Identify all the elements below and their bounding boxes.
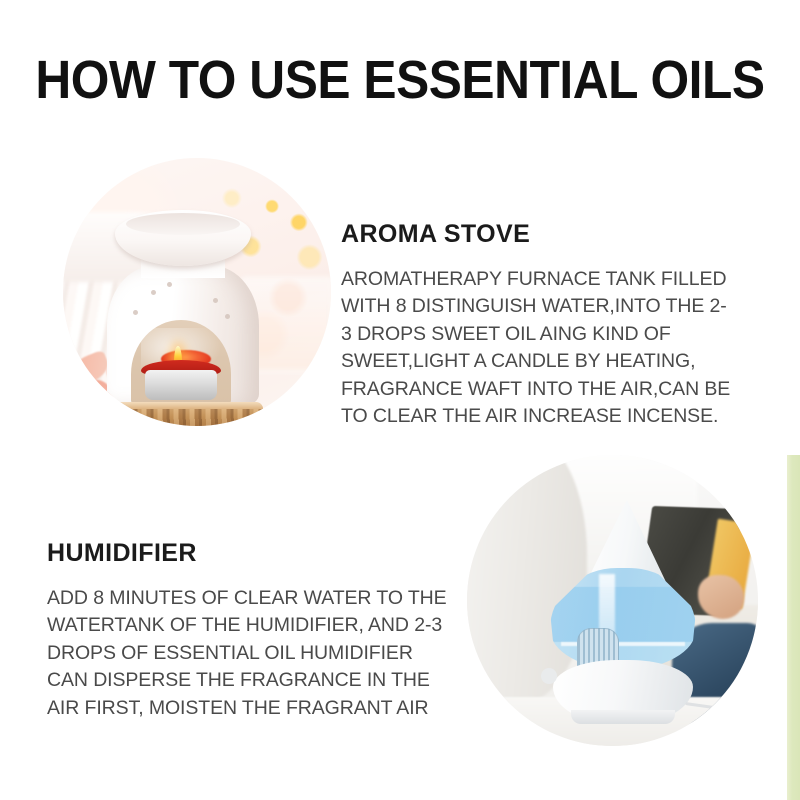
page-title: HOW TO USE ESSENTIAL OILS <box>32 52 768 108</box>
right-edge-green-strip <box>787 455 800 800</box>
section-heading-aroma-stove: AROMA STOVE <box>341 220 530 249</box>
burner-vent-hole <box>151 290 156 295</box>
product-infographic-page: HOW TO USE ESSENTIAL OILS AROMA STOVE AR… <box>0 0 800 800</box>
burner-vent-hole <box>133 310 138 315</box>
humidifier-water-tank <box>550 568 696 670</box>
humidifier-knob <box>541 668 557 684</box>
section-heading-humidifier: HUMIDIFIER <box>47 539 197 568</box>
aroma-stove-photo <box>63 158 331 426</box>
burner-arch-opening <box>131 320 231 406</box>
burner-vent-hole <box>167 282 172 287</box>
section-body-humidifier: ADD 8 MINUTES OF CLEAR WATER TO THE WATE… <box>47 585 447 722</box>
tea-candle-cup <box>145 370 217 400</box>
burner-vent-hole <box>225 314 230 319</box>
wooden-slice-base <box>103 402 263 426</box>
humidifier-photo <box>467 455 758 746</box>
humidifier-device <box>547 500 697 685</box>
section-body-aroma-stove: AROMATHERAPY FURNACE TANK FILLED WITH 8 … <box>341 266 731 430</box>
humidifier-foot <box>571 710 675 724</box>
wooden-slice-top <box>103 402 263 409</box>
burner-vent-hole <box>213 298 218 303</box>
